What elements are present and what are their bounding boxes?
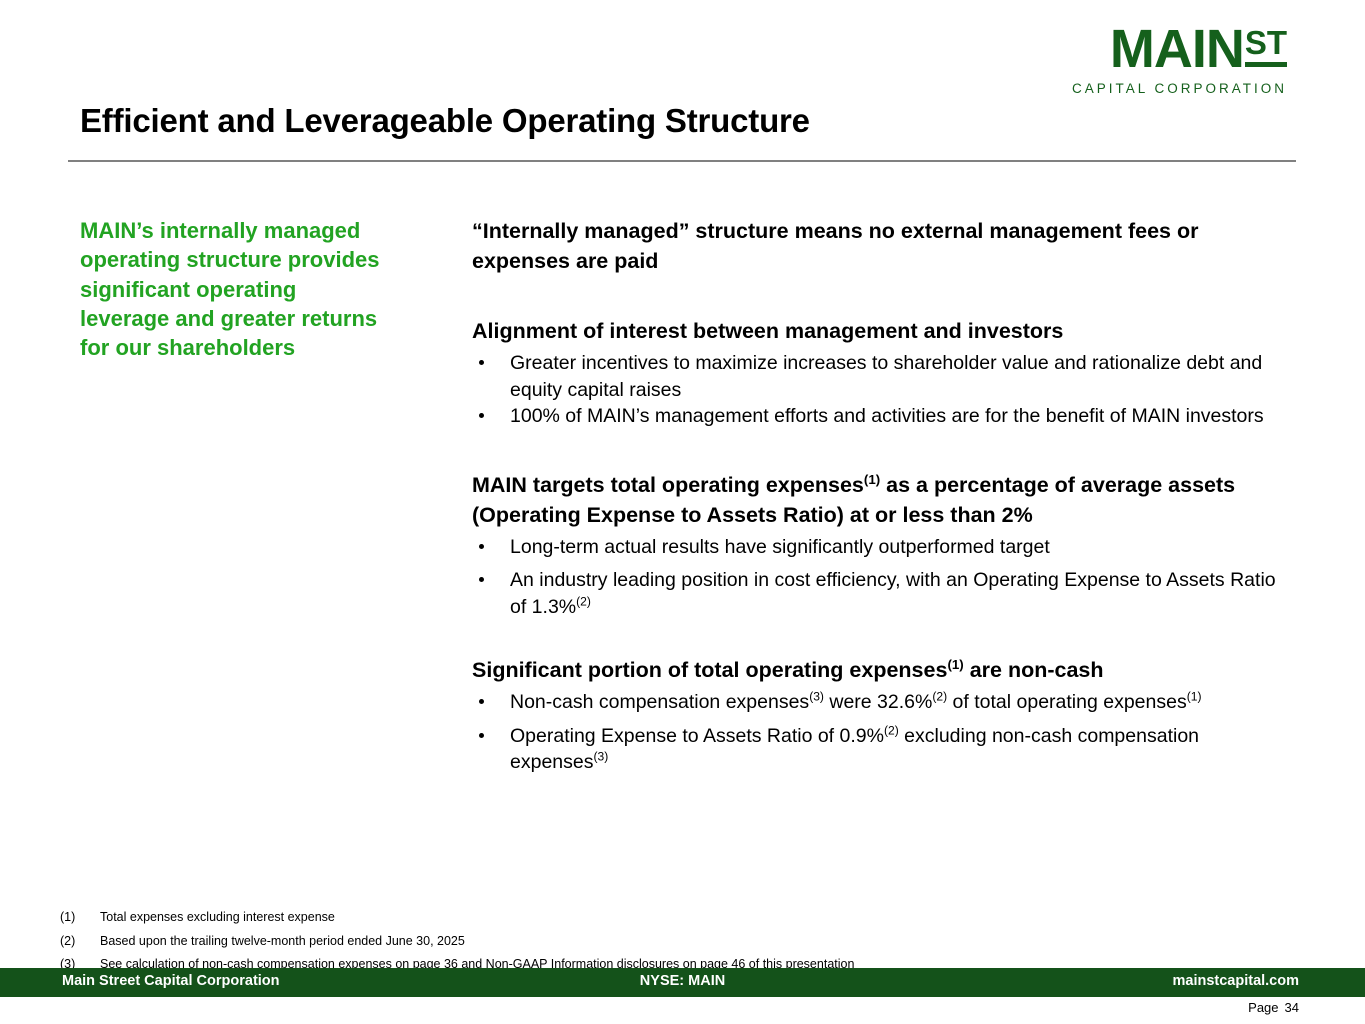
- main-content: “Internally managed” structure means no …: [472, 216, 1296, 783]
- bullet-dot-icon: [479, 544, 484, 549]
- footer-ticker: NYSE: MAIN: [0, 973, 1365, 989]
- list-item-label-3: of total operating expenses: [947, 691, 1187, 713]
- section-heading-1: “Internally managed” structure means no …: [472, 216, 1296, 276]
- section-heading-2: Alignment of interest between management…: [472, 316, 1296, 346]
- list-item: 100% of MAIN’s management efforts and ac…: [472, 403, 1296, 430]
- bullet-dot-icon: [479, 360, 484, 365]
- section-2-bullets: Greater incentives to maximize increases…: [472, 350, 1296, 430]
- footnote-ref: (2): [884, 723, 899, 737]
- footnote-ref: (2): [576, 594, 591, 608]
- spacer: [472, 276, 1296, 316]
- footnote-number: (2): [60, 930, 100, 954]
- title-divider: [68, 160, 1296, 162]
- list-item-label: Greater incentives to maximize increases…: [510, 352, 1262, 401]
- footnote-ref: (1): [947, 657, 963, 672]
- footnote-row: (1) Total expenses excluding interest ex…: [60, 906, 1310, 930]
- logo-wordmark: MAIN ST: [1072, 24, 1287, 75]
- footnote-ref: (3): [593, 750, 608, 764]
- footnotes: (1) Total expenses excluding interest ex…: [60, 906, 1310, 977]
- section-heading-4-pre: Significant portion of total operating e…: [472, 658, 947, 682]
- footnote-text: Based upon the trailing twelve-month per…: [100, 930, 465, 954]
- footnote-number: (1): [60, 906, 100, 930]
- footnote-ref: (3): [809, 690, 824, 704]
- logo-st-text: ST: [1245, 26, 1287, 59]
- footnote-ref: (1): [864, 471, 880, 486]
- page-title: Efficient and Leverageable Operating Str…: [80, 102, 810, 140]
- footnote-row: (2) Based upon the trailing twelve-month…: [60, 930, 1310, 954]
- list-item-label: Operating Expense to Assets Ratio of 0.9…: [510, 725, 884, 747]
- list-item: Long-term actual results have significan…: [472, 534, 1296, 561]
- list-item-label: Long-term actual results have significan…: [510, 536, 1050, 558]
- logo-subtitle: CAPITAL CORPORATION: [1072, 82, 1287, 96]
- section-heading-4: Significant portion of total operating e…: [472, 655, 1296, 685]
- list-item-label-2: were 32.6%: [824, 691, 932, 713]
- footnote-ref: (1): [1187, 690, 1202, 704]
- logo-underline: [1245, 62, 1287, 67]
- section-4-bullets: Non-cash compensation expenses(3) were 3…: [472, 689, 1296, 776]
- section-3-bullets: Long-term actual results have significan…: [472, 534, 1296, 621]
- section-heading-3: MAIN targets total operating expenses(1)…: [472, 470, 1296, 530]
- list-item: Greater incentives to maximize increases…: [472, 350, 1296, 403]
- section-heading-4-post: are non-cash: [964, 658, 1104, 682]
- list-item: Non-cash compensation expenses(3) were 3…: [472, 689, 1296, 716]
- section-heading-3-pre: MAIN targets total operating expenses: [472, 473, 864, 497]
- bullet-dot-icon: [479, 733, 484, 738]
- spacer: [472, 430, 1296, 470]
- list-item-label: Non-cash compensation expenses: [510, 691, 809, 713]
- bullet-dot-icon: [479, 699, 484, 704]
- footnote-text: Total expenses excluding interest expens…: [100, 906, 335, 930]
- footnote-ref: (2): [932, 690, 947, 704]
- footer-website[interactable]: mainstcapital.com: [1172, 973, 1299, 989]
- list-item-label: An industry leading position in cost eff…: [510, 569, 1276, 618]
- list-item: Operating Expense to Assets Ratio of 0.9…: [472, 723, 1296, 776]
- company-logo: MAIN ST CAPITAL CORPORATION: [1072, 24, 1287, 96]
- page-number-value: 34: [1285, 1000, 1299, 1015]
- list-item: An industry leading position in cost eff…: [472, 567, 1296, 620]
- spacer: [472, 627, 1296, 655]
- bullet-dot-icon: [479, 413, 484, 418]
- page-number-label: Page: [1248, 1000, 1278, 1015]
- logo-main-text: MAIN: [1110, 24, 1244, 75]
- list-item-label: 100% of MAIN’s management efforts and ac…: [510, 405, 1264, 427]
- page-number: Page34: [1248, 1000, 1299, 1015]
- footer-bar: Main Street Capital Corporation NYSE: MA…: [0, 968, 1365, 997]
- logo-st-group: ST: [1245, 24, 1287, 67]
- bullet-dot-icon: [479, 577, 484, 582]
- callout-text: MAIN’s internally managed operating stru…: [80, 216, 380, 362]
